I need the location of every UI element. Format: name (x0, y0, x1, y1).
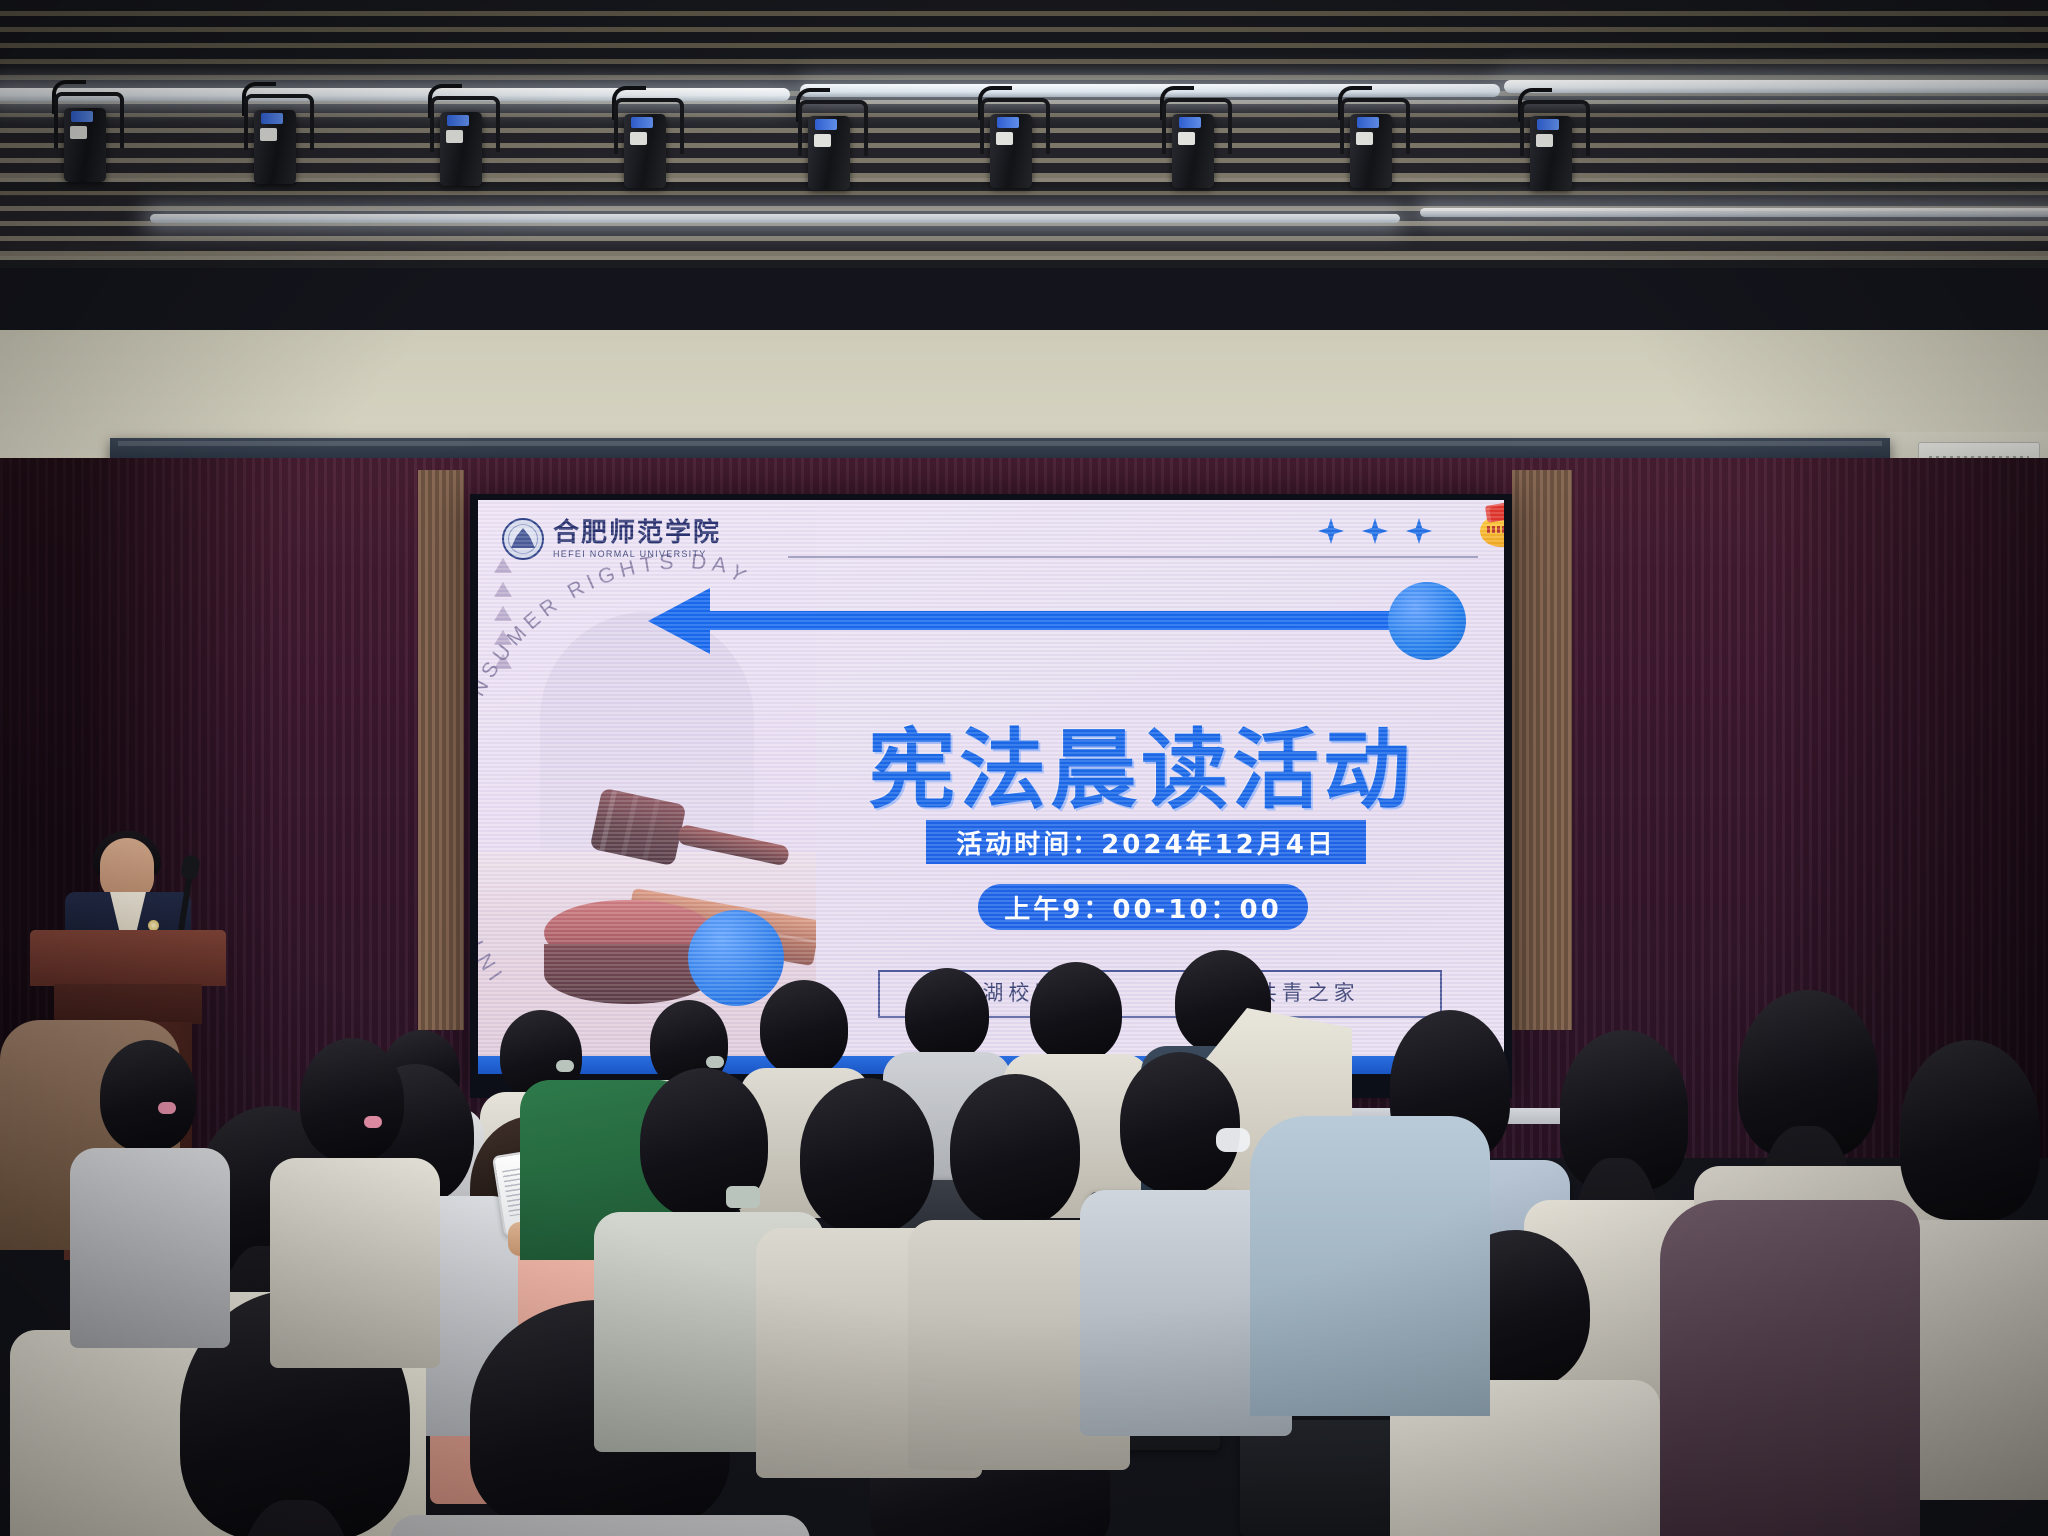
screenshot-root: INTERNATIONAL CONSUMER RIGHTS DAY 合肥师范学院… (0, 0, 2048, 1536)
face-mask (1216, 1128, 1250, 1152)
audience (0, 0, 2048, 1536)
